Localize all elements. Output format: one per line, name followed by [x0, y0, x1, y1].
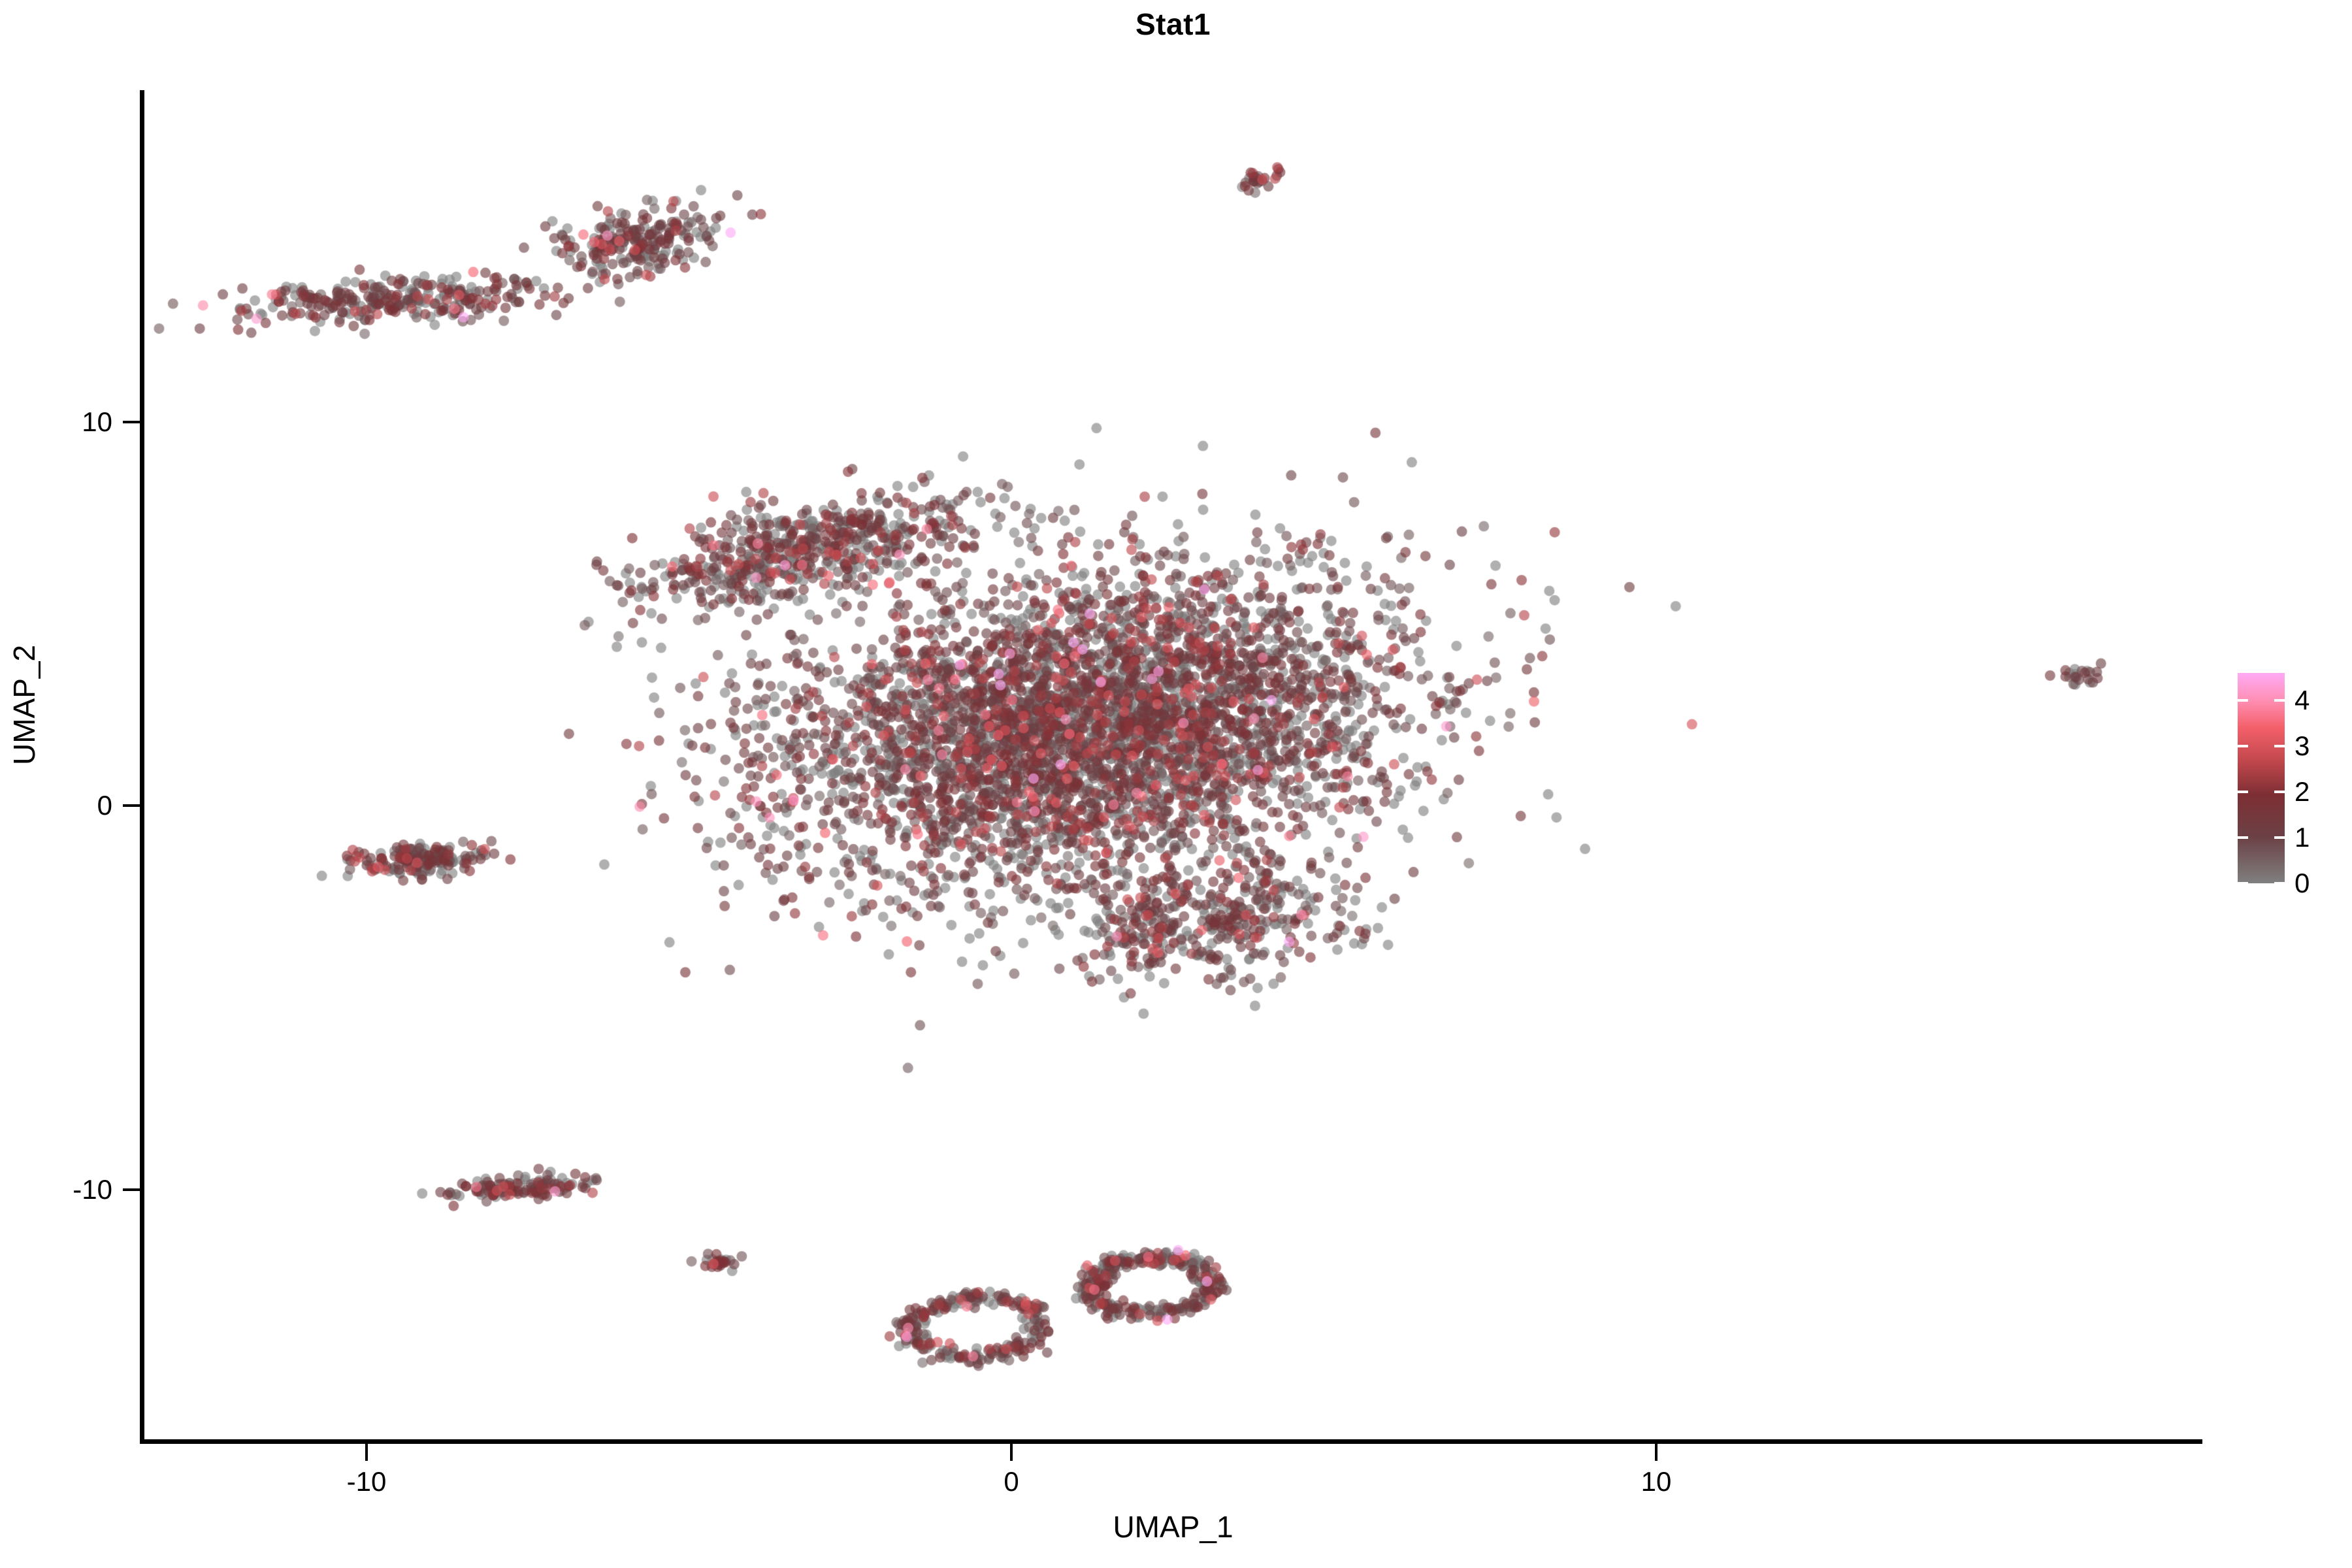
y-tick-mark: [123, 1188, 140, 1191]
x-tick-label: -10: [347, 1466, 387, 1497]
x-tick-label: 0: [1004, 1466, 1019, 1497]
legend-tick-label: 2: [2295, 776, 2310, 808]
legend-tick-label: 4: [2295, 685, 2310, 716]
x-axis-title: UMAP_1: [144, 1509, 2202, 1544]
legend-tick-mark: [2274, 791, 2285, 793]
legend-colorbar: [2238, 673, 2285, 883]
x-axis-line: [140, 1439, 2202, 1444]
legend-tick-mark: [2274, 882, 2285, 885]
y-axis-title: UMAP_2: [7, 645, 42, 765]
y-axis-line: [140, 90, 144, 1444]
x-tick-mark: [1010, 1444, 1013, 1461]
plot-panel: [144, 90, 2202, 1439]
legend-tick-mark: [2274, 699, 2285, 702]
y-tick-label: 10: [82, 406, 112, 438]
page-title: Stat1: [144, 7, 2202, 42]
color-legend[interactable]: 01234: [2234, 666, 2345, 902]
y-tick-mark: [123, 804, 140, 807]
legend-tick-mark: [2238, 882, 2248, 885]
legend-tick-mark: [2238, 745, 2248, 747]
legend-tick-label: 0: [2295, 868, 2310, 899]
legend-tick-mark: [2238, 699, 2248, 702]
y-tick-label: -10: [73, 1174, 112, 1205]
legend-tick-label: 1: [2295, 822, 2310, 853]
legend-tick-mark: [2238, 791, 2248, 793]
x-tick-label: 10: [1641, 1466, 1672, 1497]
x-tick-mark: [365, 1444, 368, 1461]
umap-feature-plot: Stat1 -10010 100-10 UMAP_1 UMAP_2 01234: [0, 0, 2352, 1568]
y-tick-mark: [123, 421, 140, 423]
scatter-points-layer: [144, 90, 2202, 1439]
y-tick-label: 0: [97, 790, 112, 821]
legend-tick-label: 3: [2295, 730, 2310, 762]
legend-tick-mark: [2238, 836, 2248, 839]
legend-tick-mark: [2274, 836, 2285, 839]
legend-tick-mark: [2274, 745, 2285, 747]
x-tick-mark: [1655, 1444, 1658, 1461]
